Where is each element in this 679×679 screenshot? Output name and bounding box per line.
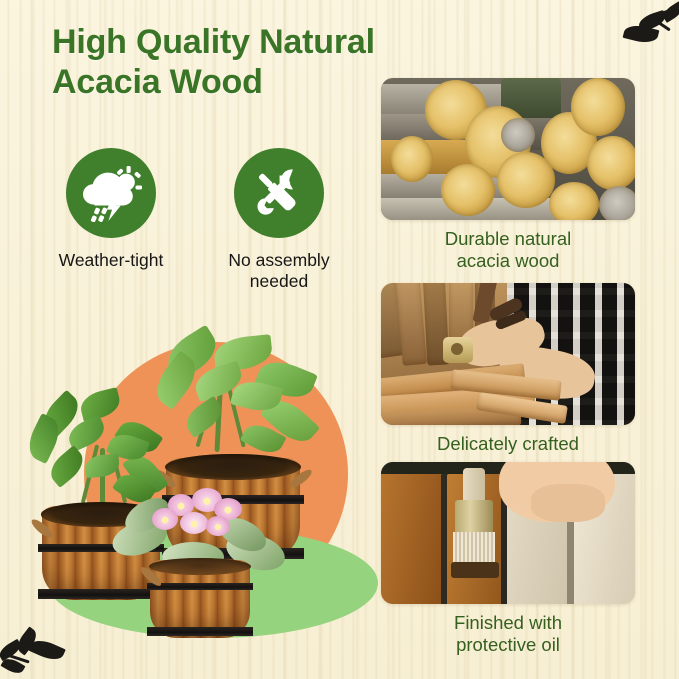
caption-delicately-crafted: Delicately crafted xyxy=(381,433,635,455)
african-violet-planter xyxy=(150,560,250,638)
feature-no-assembly: No assembly needed xyxy=(214,148,344,292)
feature-label-no-assembly: No assembly needed xyxy=(214,250,344,292)
caption-finished-with-protective-oil: Finished with protective oil xyxy=(381,612,635,656)
carpenter-crafting-wood-photo xyxy=(381,283,635,425)
page-title: High Quality Natural Acacia Wood xyxy=(52,22,392,102)
wrench-screwdriver-icon xyxy=(250,164,308,222)
photo-card-carpenter: Delicately crafted xyxy=(381,283,635,425)
photo-card-protective-oil: Finished with protective oil xyxy=(381,462,635,604)
tools-badge xyxy=(234,148,324,238)
stacked-acacia-logs-photo xyxy=(381,78,635,220)
headline-line-1: High Quality Natural xyxy=(52,23,375,61)
caption-durable-natural-acacia-wood: Durable natural acacia wood xyxy=(381,228,635,272)
product-infographic: High Quality Natural Acacia Wood xyxy=(0,0,679,679)
feature-label-weather-tight: Weather-tight xyxy=(46,250,176,271)
brush-applying-protective-oil-photo xyxy=(381,462,635,604)
feature-badge-list: Weather-tight xyxy=(46,148,366,292)
feature-weather-tight: Weather-tight xyxy=(46,148,176,292)
photo-card-logs: Durable natural acacia wood xyxy=(381,78,635,220)
storm-cloud-icon xyxy=(80,164,142,222)
product-collage xyxy=(18,338,378,668)
leaf-ornament-bottom-left xyxy=(0,630,74,679)
storm-cloud-badge xyxy=(66,148,156,238)
headline-line-2: Acacia Wood xyxy=(52,62,392,102)
leaf-ornament-top-right xyxy=(618,4,679,56)
